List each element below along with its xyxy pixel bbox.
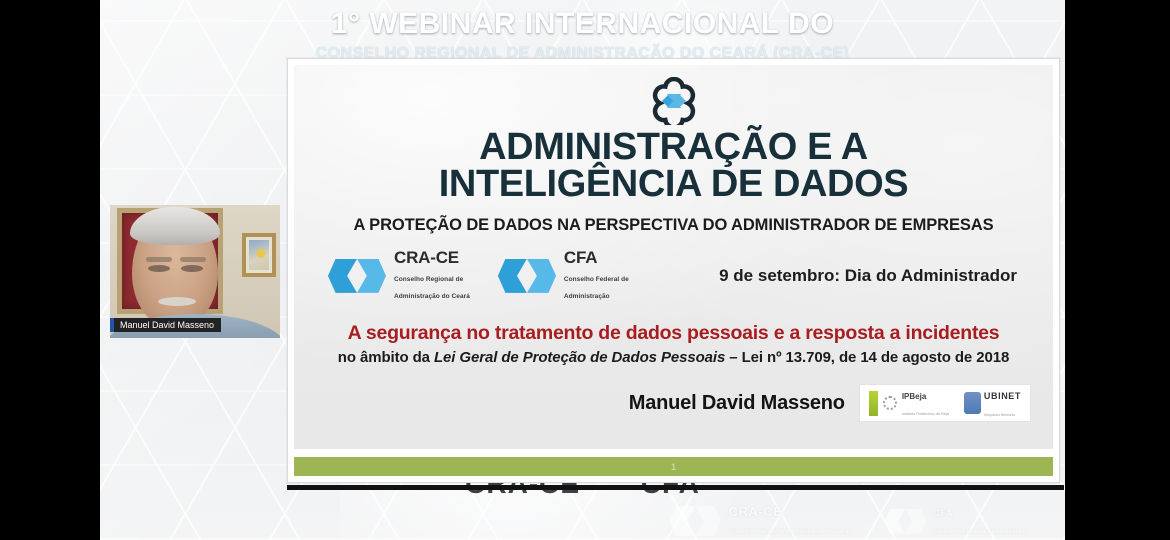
watermark-cfa: CFA Conselho Federal de Administração [884, 504, 1025, 538]
gear-icon [883, 396, 897, 410]
slide-title-line-1: ADMINISTRAÇÃO E A [439, 129, 908, 166]
org-logo-cra-ce: CRA-CE Conselho Regional de Administraçã… [328, 249, 470, 302]
institution-name: UBINET [984, 391, 1021, 401]
author-name: Manuel David Masseno [629, 392, 845, 415]
slide-title: ADMINISTRAÇÃO E A INTELIGÊNCIA DE DADOS [439, 129, 908, 203]
institution-subtitle: Instituto Politécnico de Beja [902, 412, 949, 416]
ipbeja-logo: IPBeja Instituto Politécnico de Beja [869, 387, 949, 421]
org-subtitle-line-1: Conselho Regional de [394, 276, 463, 283]
video-call-stage: 1° WEBINAR INTERNACIONAL DO CONSELHO REG… [0, 0, 1170, 540]
org-name: CFA [564, 248, 597, 267]
watermark-cra-ce: CRA-CE Conselho Regional de Administraçã… [669, 504, 848, 538]
participant-eye-right [181, 265, 203, 272]
author-row: Manuel David Masseno IPBeja Instituto Po… [294, 384, 1053, 422]
institution-name: IPBeja [902, 392, 926, 401]
ubinet-logo: UBINET Ubiquitous Networks [964, 386, 1021, 421]
law-prefix: no âmbito da [338, 349, 434, 366]
cra-flower-logo-icon [643, 77, 705, 125]
org-subtitle-line-1: Conselho Federal de [564, 276, 629, 283]
cra-logo-icon [669, 506, 721, 536]
watermark-title: CFA [933, 508, 953, 518]
wall-painting-small [242, 233, 276, 277]
participant-video-tile[interactable]: Manuel David Masseno [110, 205, 280, 338]
participant-eyebrow-left [146, 257, 172, 262]
institution-subtitle: Ubiquitous Networks [984, 413, 1015, 417]
slide-baseline [287, 485, 1064, 490]
green-bar-icon [869, 391, 878, 416]
org-subtitle-line-2: Administração [564, 293, 610, 300]
presentation-slide[interactable]: ADMINISTRAÇÃO E A INTELIGÊNCIA DE DADOS … [287, 58, 1060, 483]
watermark-subtitle: Conselho Federal de Administração [933, 529, 1025, 535]
slide-content: ADMINISTRAÇÃO E A INTELIGÊNCIA DE DADOS … [294, 65, 1053, 449]
cra-ce-logo-icon [328, 259, 386, 293]
participant-mustache [158, 297, 196, 306]
institution-logos: IPBeja Instituto Politécnico de Beja UBI… [859, 384, 1031, 422]
cfa-logo-icon [884, 509, 926, 534]
painting-art [249, 240, 269, 270]
watermark-subtitle: Conselho Regional de Administração do Ce… [728, 529, 848, 535]
org-logo-cfa: CFA Conselho Federal de Administração [498, 249, 629, 302]
background-watermarks: CRA-CE Conselho Regional de Administraçã… [669, 504, 1025, 538]
cfa-logo-icon [498, 259, 556, 293]
organisation-logo-row: CRA-CE Conselho Regional de Administraçã… [294, 249, 1053, 302]
pillarbox-left [0, 0, 100, 540]
slide-page-number: 1 [671, 462, 676, 472]
pillarbox-right [1065, 0, 1170, 540]
slide-title-line-2: INTELIGÊNCIA DE DADOS [439, 166, 908, 203]
blue-square-icon [964, 392, 981, 414]
participant-name-text: Manuel David Masseno [120, 320, 214, 330]
participant-name-label: Manuel David Masseno [110, 318, 221, 332]
participant-eyebrow-right [180, 257, 206, 262]
org-subtitle-line-2: Administração do Ceará [394, 293, 470, 300]
slide-law-reference: no âmbito da Lei Geral de Proteção de Da… [338, 349, 1009, 366]
slide-subtitle: A PROTEÇÃO DE DADOS NA PERSPECTIVA DO AD… [353, 216, 993, 235]
watermark-title: CRA-CE [728, 504, 782, 519]
slide-red-headline: A segurança no tratamento de dados pesso… [348, 322, 1000, 345]
org-name: CRA-CE [394, 248, 459, 267]
date-note: 9 de setembro: Dia do Administrador [719, 266, 1033, 286]
law-suffix: – Lei nº 13.709, de 14 de agosto de 2018 [725, 349, 1009, 366]
slide-footer-bar: 1 [294, 457, 1053, 476]
participant-eye-left [148, 265, 170, 272]
law-italic-title: Lei Geral de Proteção de Dados Pessoais [434, 349, 725, 366]
